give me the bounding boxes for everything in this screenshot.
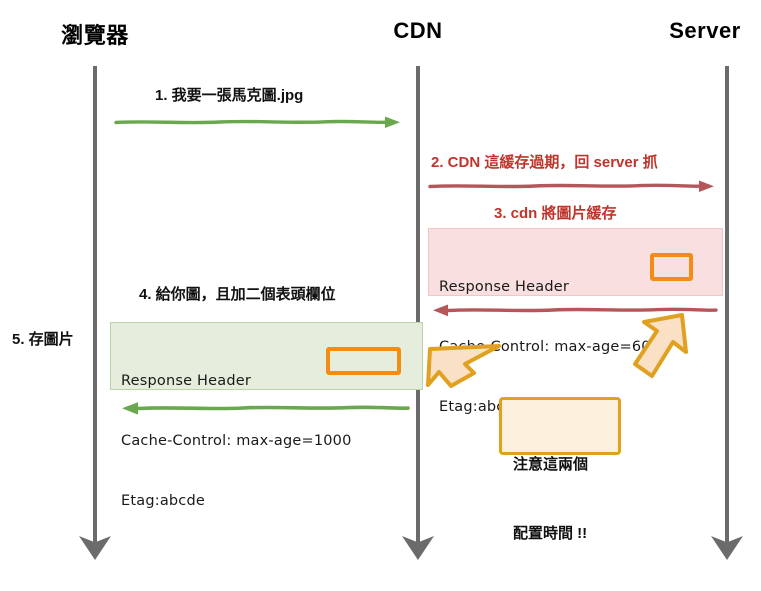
callout-arrow-left	[425, 340, 505, 400]
step-label-5: 5. 存圖片	[12, 328, 74, 349]
note-line-2: 配置時間 !!	[513, 522, 607, 545]
response-header-box-browser: Response Header Cache-Control: max-age=1…	[110, 322, 423, 390]
arrow-step2-red-right	[430, 181, 714, 193]
sequence-diagram-canvas: 瀏覽器 CDN Server	[0, 0, 761, 581]
note-line-1: 注意這兩個	[513, 453, 607, 476]
arrow-step1-green-right	[116, 117, 400, 129]
response-header-line-title: Response Header	[121, 371, 412, 391]
callout-arrow-right	[620, 312, 700, 397]
response-header-line-etag: Etag:abcde	[121, 491, 412, 511]
step-label-4: 4. 給你圖，且加二個表頭欄位	[139, 283, 336, 304]
step-label-1: 1. 我要一張馬克圖.jpg	[155, 84, 303, 105]
response-header-line-title: Response Header	[439, 277, 712, 297]
config-time-note: 注意這兩個 配置時間 !!	[499, 397, 621, 455]
response-header-box-cdn: Response Header Cache-Control: max-age=6…	[428, 228, 723, 296]
response-header-line-cache-control: Cache-Control: max-age=1000	[121, 431, 412, 451]
step-label-3: 3. cdn 將圖片緩存	[494, 202, 617, 223]
step-label-2: 2. CDN 這緩存過期，回 server 抓	[431, 151, 658, 172]
